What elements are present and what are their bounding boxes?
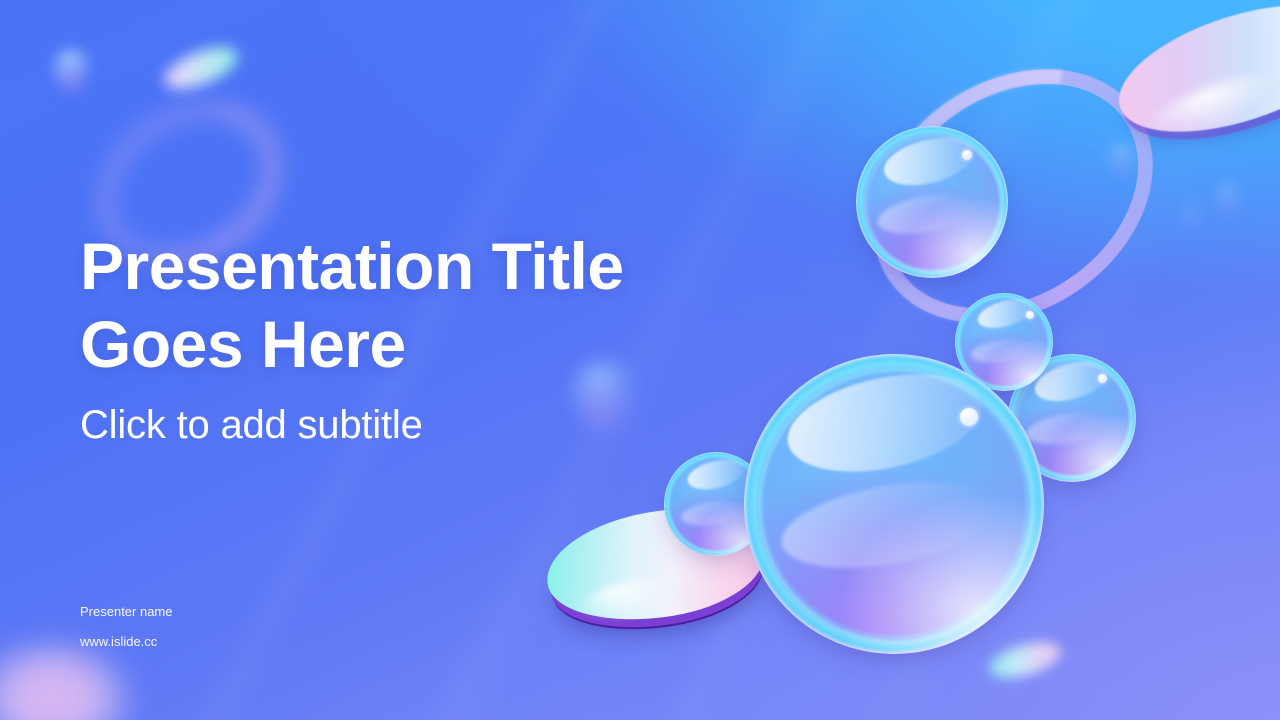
slide-footer: Presenter name www.islide.cc <box>80 605 173 648</box>
bubble-highlight-arc-icon <box>779 358 991 487</box>
soap-bubble-icon <box>1008 354 1136 482</box>
torus-ring-highlight-icon <box>824 17 1201 375</box>
bubble-blurred-icon <box>50 48 96 94</box>
bubble-inner-ring-icon <box>865 135 1003 273</box>
soap-bubble-main-icon <box>744 354 1044 654</box>
bubble-highlight-band-icon <box>1024 408 1110 450</box>
iridescent-disc-large-icon <box>1104 0 1280 157</box>
soap-bubble-icon <box>955 293 1053 391</box>
bubble-blurred-icon <box>1214 182 1244 216</box>
website-url[interactable]: www.islide.cc <box>80 635 173 648</box>
bubble-highlight-arc-icon <box>880 129 979 192</box>
slide-subtitle-placeholder[interactable]: Click to add subtitle <box>80 402 720 448</box>
soap-bubble-icon <box>664 452 768 556</box>
bubble-highlight-arc-icon <box>974 293 1036 333</box>
soap-bubble-icon <box>856 126 1008 278</box>
bubble-highlight-band-icon <box>679 498 744 529</box>
bubble-specular-dot-icon <box>960 408 978 426</box>
presentation-slide: Presentation Title Goes Here Click to ad… <box>0 0 1280 720</box>
bubble-highlight-band-icon <box>969 336 1032 366</box>
bubble-highlight-arc-icon <box>1030 355 1111 408</box>
presenter-name[interactable]: Presenter name <box>80 605 173 618</box>
bubble-blurred-icon <box>1182 200 1204 236</box>
torus-ring-icon <box>824 17 1201 375</box>
bubble-inner-ring-icon <box>1016 362 1133 479</box>
bubble-specular-dot-icon <box>1026 311 1034 319</box>
slide-title[interactable]: Presentation Title Goes Here <box>80 228 720 384</box>
bubble-highlight-band-icon <box>775 468 1001 582</box>
bubble-inner-ring-icon <box>759 369 1033 643</box>
iridescent-disc-small-icon <box>985 635 1064 684</box>
title-text-block: Presentation Title Goes Here Click to ad… <box>80 228 720 448</box>
bubble-highlight-arc-icon <box>684 455 747 495</box>
iridescent-platform-icon <box>539 496 771 635</box>
iridescent-disc-small-icon <box>159 39 243 98</box>
bubble-highlight-band-icon <box>875 187 980 240</box>
bubble-blurred-icon <box>1106 142 1142 178</box>
bubble-specular-dot-icon <box>1098 374 1107 383</box>
bubble-specular-dot-icon <box>962 150 972 160</box>
glow-blob-icon <box>0 640 138 720</box>
